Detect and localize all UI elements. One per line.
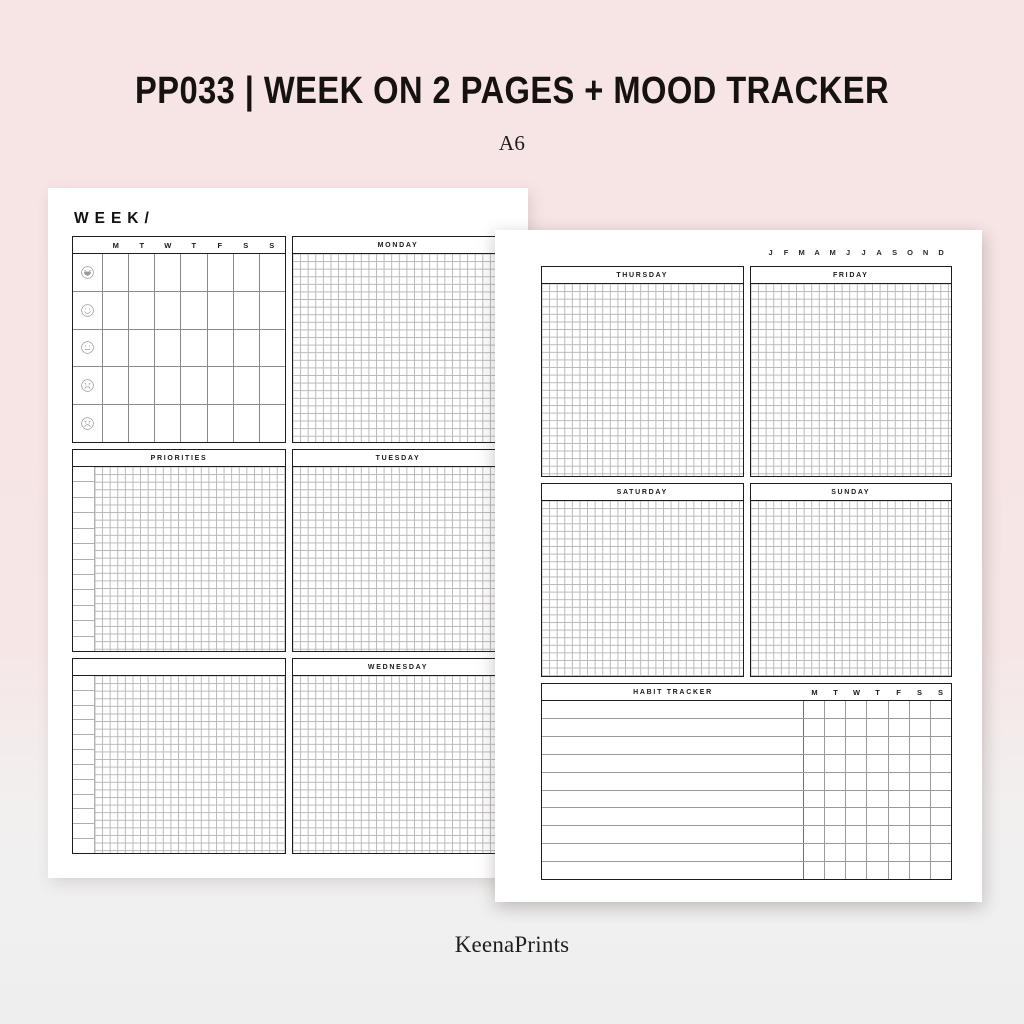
habit-cell[interactable]: [867, 862, 888, 879]
habit-cell[interactable]: [910, 791, 931, 808]
mood-day-s2: S: [259, 237, 285, 253]
mood-header-spacer: [73, 237, 103, 253]
section-monday-body[interactable]: [293, 254, 503, 442]
habit-cell[interactable]: [931, 773, 951, 790]
habit-day-cells: [804, 808, 951, 825]
notes-checkbox-column[interactable]: [73, 676, 95, 853]
habit-tracker-box[interactable]: HABIT TRACKER M T W T F S S: [541, 683, 952, 880]
mood-cell[interactable]: [129, 405, 155, 442]
month-oct[interactable]: O: [903, 248, 919, 257]
habit-cell[interactable]: [931, 844, 951, 861]
note-checkbox[interactable]: [73, 824, 94, 839]
habit-cell[interactable]: [889, 773, 910, 790]
habit-cell[interactable]: [889, 755, 910, 772]
mood-day-w: W: [155, 237, 181, 253]
habit-row[interactable]: [542, 737, 951, 755]
mood-day-t1: T: [129, 237, 155, 253]
habit-cell[interactable]: [867, 719, 888, 736]
habit-cell[interactable]: [931, 755, 951, 772]
habit-cell[interactable]: [889, 791, 910, 808]
habit-day-cells: [804, 791, 951, 808]
habit-cell[interactable]: [867, 791, 888, 808]
habit-name-field[interactable]: [542, 862, 804, 879]
habit-cell[interactable]: [846, 701, 867, 718]
note-checkbox[interactable]: [73, 691, 94, 706]
habit-day-cells: [804, 755, 951, 772]
habit-cell[interactable]: [825, 773, 846, 790]
note-checkbox[interactable]: [73, 795, 94, 810]
section-tuesday-label: TUESDAY: [293, 450, 503, 467]
habit-day-cells: [804, 701, 951, 718]
habit-cell[interactable]: [889, 826, 910, 843]
section-notes[interactable]: [72, 658, 286, 854]
section-priorities-label: PRIORITIES: [73, 450, 285, 467]
band-priorities-tuesday: PRIORITIES: [72, 449, 504, 652]
habit-row[interactable]: [542, 826, 951, 844]
mood-cell[interactable]: [234, 367, 260, 404]
mood-cell[interactable]: [208, 292, 234, 329]
grid-paper: [751, 284, 952, 476]
habit-cell[interactable]: [804, 773, 825, 790]
habit-cell[interactable]: [825, 844, 846, 861]
habit-cell[interactable]: [867, 773, 888, 790]
habit-day-cells: [804, 844, 951, 861]
habit-cell[interactable]: [825, 755, 846, 772]
mood-cell[interactable]: [103, 330, 129, 367]
month-sep[interactable]: S: [887, 248, 903, 257]
band-mood-monday: M T W T F S S: [72, 236, 504, 443]
habit-cell[interactable]: [889, 737, 910, 754]
right-planner-page[interactable]: J F M A M J J A S O N D THURSDAY FRIDAY: [495, 230, 982, 902]
habit-day-cells: [804, 737, 951, 754]
grid-paper: [751, 501, 952, 676]
note-checkbox[interactable]: [73, 839, 94, 853]
mood-cell[interactable]: [260, 405, 285, 442]
habit-cell[interactable]: [910, 719, 931, 736]
habit-cell[interactable]: [846, 719, 867, 736]
habit-cell[interactable]: [825, 719, 846, 736]
grid-paper: [542, 284, 743, 476]
habit-cell[interactable]: [889, 808, 910, 825]
habit-name-field[interactable]: [542, 844, 804, 861]
habit-name-field[interactable]: [542, 826, 804, 843]
habit-cell[interactable]: [910, 773, 931, 790]
priority-checkbox[interactable]: [73, 482, 94, 497]
month-nov[interactable]: N: [918, 248, 934, 257]
grid-paper: [293, 676, 503, 853]
habit-cell[interactable]: [910, 844, 931, 861]
mood-cell[interactable]: [155, 367, 181, 404]
habit-row[interactable]: [542, 773, 951, 791]
habit-cell[interactable]: [846, 737, 867, 754]
mood-row-sad[interactable]: [73, 367, 285, 405]
note-checkbox[interactable]: [73, 676, 94, 691]
priority-checkbox[interactable]: [73, 637, 94, 651]
mood-cell[interactable]: [181, 292, 207, 329]
habit-cell[interactable]: [889, 862, 910, 879]
habit-cell[interactable]: [846, 773, 867, 790]
habit-tracker-header-row: HABIT TRACKER M T W T F S S: [542, 684, 951, 701]
mood-cell[interactable]: [181, 254, 207, 291]
priority-checkbox[interactable]: [73, 498, 94, 513]
mood-day-m1: M: [103, 237, 129, 253]
mood-row-very-happy[interactable]: [73, 254, 285, 292]
mood-cell[interactable]: [260, 367, 285, 404]
left-planner-page[interactable]: WEEK/ M T W T F S S: [48, 188, 528, 878]
page-title: PP033 | WEEK ON 2 PAGES + MOOD TRACKER: [72, 70, 953, 113]
note-checkbox[interactable]: [73, 780, 94, 795]
priority-checkbox[interactable]: [73, 606, 94, 621]
habit-day-cells: [804, 773, 951, 790]
grid-paper: [293, 467, 503, 651]
priority-checkbox[interactable]: [73, 529, 94, 544]
mood-cell[interactable]: [103, 292, 129, 329]
mood-cell[interactable]: [208, 254, 234, 291]
mood-cell[interactable]: [208, 405, 234, 442]
sad-face-icon: [73, 367, 103, 404]
very-happy-face-icon: [73, 254, 103, 291]
habit-cell[interactable]: [931, 826, 951, 843]
habit-cell[interactable]: [846, 808, 867, 825]
happy-face-icon: [73, 292, 103, 329]
habit-row[interactable]: [542, 755, 951, 773]
mood-cell[interactable]: [260, 254, 285, 291]
habit-day-s1: S: [909, 684, 930, 700]
very-sad-face-icon: [73, 405, 103, 442]
habit-cell[interactable]: [931, 719, 951, 736]
mood-cell[interactable]: [234, 292, 260, 329]
habit-row[interactable]: [542, 862, 951, 879]
mood-cell[interactable]: [129, 367, 155, 404]
section-sunday-body[interactable]: [751, 501, 952, 676]
habit-cell[interactable]: [825, 701, 846, 718]
mood-day-t2: T: [181, 237, 207, 253]
habit-cell[interactable]: [867, 826, 888, 843]
habit-cell[interactable]: [867, 808, 888, 825]
mood-cell[interactable]: [181, 330, 207, 367]
habit-row[interactable]: [542, 701, 951, 719]
habit-cell[interactable]: [825, 862, 846, 879]
habit-day-t1: T: [825, 684, 846, 700]
notes-write-area[interactable]: [95, 676, 285, 853]
habit-cell[interactable]: [846, 791, 867, 808]
habit-name-field[interactable]: [542, 737, 804, 754]
priorities-checkbox-column[interactable]: [73, 467, 95, 651]
mood-cell[interactable]: [260, 292, 285, 329]
priority-checkbox[interactable]: [73, 575, 94, 590]
grid-paper: [95, 467, 285, 651]
left-page-content: WEEK/ M T W T F S S: [72, 210, 504, 854]
mood-row-happy[interactable]: [73, 292, 285, 330]
month-mar[interactable]: M: [794, 248, 810, 257]
month-aug[interactable]: A: [872, 248, 888, 257]
habit-day-cells: [804, 719, 951, 736]
habit-name-field[interactable]: [542, 791, 804, 808]
grid-paper: [542, 501, 743, 676]
habit-cell[interactable]: [825, 808, 846, 825]
section-priorities-body[interactable]: [73, 467, 285, 651]
mood-cell[interactable]: [208, 330, 234, 367]
habit-tracker-rows: [542, 701, 951, 879]
note-checkbox[interactable]: [73, 750, 94, 765]
habit-cell[interactable]: [804, 791, 825, 808]
mood-day-f: F: [207, 237, 233, 253]
priority-checkbox[interactable]: [73, 467, 94, 482]
section-notes-label: [73, 659, 285, 676]
note-checkbox[interactable]: [73, 735, 94, 750]
habit-cell[interactable]: [931, 737, 951, 754]
habit-cell[interactable]: [910, 755, 931, 772]
note-checkbox[interactable]: [73, 720, 94, 735]
section-wednesday[interactable]: WEDNESDAY: [292, 658, 504, 854]
habit-name-field[interactable]: [542, 773, 804, 790]
habit-cell[interactable]: [889, 844, 910, 861]
mood-cell[interactable]: [234, 330, 260, 367]
habit-name-field[interactable]: [542, 755, 804, 772]
mood-tracker-header-row: M T W T F S S: [73, 237, 285, 254]
right-page-content: J F M A M J J A S O N D THURSDAY FRIDAY: [541, 248, 952, 880]
habit-cell[interactable]: [846, 862, 867, 879]
habit-cell[interactable]: [846, 826, 867, 843]
month-apr[interactable]: A: [810, 248, 826, 257]
band-notes-wednesday: WEDNESDAY: [72, 658, 504, 854]
habit-cell[interactable]: [910, 862, 931, 879]
grid-paper: [293, 254, 503, 442]
mood-cell[interactable]: [155, 254, 181, 291]
mood-cell[interactable]: [208, 367, 234, 404]
habit-cell[interactable]: [825, 791, 846, 808]
month-jul[interactable]: J: [856, 248, 872, 257]
habit-cell[interactable]: [804, 701, 825, 718]
habit-day-headers: M T W T F S S: [804, 684, 951, 700]
habit-cell[interactable]: [931, 808, 951, 825]
section-priorities[interactable]: PRIORITIES: [72, 449, 286, 652]
habit-row[interactable]: [542, 844, 951, 862]
section-friday-label: FRIDAY: [751, 267, 952, 284]
section-thursday-body[interactable]: [542, 284, 743, 476]
note-checkbox[interactable]: [73, 706, 94, 721]
habit-cell[interactable]: [825, 826, 846, 843]
habit-cell[interactable]: [867, 701, 888, 718]
habit-cell[interactable]: [889, 719, 910, 736]
mood-cell[interactable]: [103, 405, 129, 442]
section-monday[interactable]: MONDAY: [292, 236, 504, 443]
band-habit-tracker: HABIT TRACKER M T W T F S S: [541, 683, 952, 880]
mood-cell[interactable]: [181, 367, 207, 404]
habit-name-field[interactable]: [542, 701, 804, 718]
header: PP033 | WEEK ON 2 PAGES + MOOD TRACKER A…: [0, 0, 1024, 185]
mood-cell[interactable]: [103, 367, 129, 404]
priority-checkbox[interactable]: [73, 560, 94, 575]
section-wednesday-body[interactable]: [293, 676, 503, 853]
section-notes-body[interactable]: [73, 676, 285, 853]
habit-cell[interactable]: [804, 844, 825, 861]
week-heading: WEEK/: [72, 210, 504, 228]
habit-cell[interactable]: [867, 737, 888, 754]
mood-cell[interactable]: [155, 405, 181, 442]
habit-cell[interactable]: [910, 737, 931, 754]
habit-tracker-label: HABIT TRACKER: [542, 684, 804, 700]
habit-name-field[interactable]: [542, 719, 804, 736]
mood-tracker-rows: [73, 254, 285, 442]
mood-tracker-box[interactable]: M T W T F S S: [72, 236, 286, 443]
habit-cell[interactable]: [804, 808, 825, 825]
months-strip[interactable]: J F M A M J J A S O N D: [541, 248, 952, 257]
habit-day-t2: T: [867, 684, 888, 700]
note-checkbox[interactable]: [73, 765, 94, 780]
habit-cell[interactable]: [910, 701, 931, 718]
section-tuesday-body[interactable]: [293, 467, 503, 651]
priority-checkbox[interactable]: [73, 621, 94, 636]
priorities-write-area[interactable]: [95, 467, 285, 651]
habit-name-field[interactable]: [542, 808, 804, 825]
mood-cell[interactable]: [129, 330, 155, 367]
habit-cell[interactable]: [804, 862, 825, 879]
neutral-face-icon: [73, 330, 103, 367]
habit-day-m1: M: [804, 684, 825, 700]
habit-day-s2: S: [930, 684, 951, 700]
mood-cell[interactable]: [181, 405, 207, 442]
habit-cell[interactable]: [804, 755, 825, 772]
habit-cell[interactable]: [867, 844, 888, 861]
section-thursday[interactable]: THURSDAY: [541, 266, 744, 477]
section-friday-body[interactable]: [751, 284, 952, 476]
mood-cell[interactable]: [129, 292, 155, 329]
brand-footer: KeenaPrints: [0, 932, 1024, 958]
month-jan[interactable]: J: [763, 248, 779, 257]
habit-day-w: W: [846, 684, 867, 700]
section-saturday[interactable]: SATURDAY: [541, 483, 744, 677]
section-tuesday[interactable]: TUESDAY: [292, 449, 504, 652]
month-feb[interactable]: F: [779, 248, 795, 257]
habit-cell[interactable]: [804, 719, 825, 736]
habit-cell[interactable]: [931, 701, 951, 718]
section-sunday-label: SUNDAY: [751, 484, 952, 501]
section-friday[interactable]: FRIDAY: [750, 266, 953, 477]
month-dec[interactable]: D: [934, 248, 950, 257]
habit-row[interactable]: [542, 791, 951, 809]
habit-cell[interactable]: [931, 862, 951, 879]
mood-cell[interactable]: [155, 292, 181, 329]
note-checkbox[interactable]: [73, 809, 94, 824]
band-thursday-friday: THURSDAY FRIDAY: [541, 266, 952, 477]
section-monday-label: MONDAY: [293, 237, 503, 254]
habit-cell[interactable]: [825, 737, 846, 754]
habit-cell[interactable]: [910, 826, 931, 843]
mood-cell[interactable]: [103, 254, 129, 291]
habit-cell[interactable]: [804, 826, 825, 843]
mood-tracker-table: M T W T F S S: [73, 237, 285, 442]
priority-checkbox[interactable]: [73, 544, 94, 559]
mood-row-very-sad[interactable]: [73, 405, 285, 442]
section-sunday[interactable]: SUNDAY: [750, 483, 953, 677]
month-may[interactable]: M: [825, 248, 841, 257]
mood-row-neutral[interactable]: [73, 330, 285, 368]
section-thursday-label: THURSDAY: [542, 267, 743, 284]
habit-row[interactable]: [542, 719, 951, 737]
habit-cell[interactable]: [889, 701, 910, 718]
page-subtitle-size: A6: [0, 131, 1024, 156]
habit-cell[interactable]: [931, 791, 951, 808]
habit-row[interactable]: [542, 808, 951, 826]
priority-checkbox[interactable]: [73, 513, 94, 528]
habit-cell[interactable]: [867, 755, 888, 772]
habit-day-f: F: [888, 684, 909, 700]
band-saturday-sunday: SATURDAY SUNDAY: [541, 483, 952, 677]
mood-cell[interactable]: [234, 254, 260, 291]
mood-cell[interactable]: [155, 330, 181, 367]
mood-day-s1: S: [233, 237, 259, 253]
section-wednesday-label: WEDNESDAY: [293, 659, 503, 676]
mood-cell[interactable]: [260, 330, 285, 367]
habit-cell[interactable]: [846, 844, 867, 861]
habit-cell[interactable]: [846, 755, 867, 772]
month-jun[interactable]: J: [841, 248, 857, 257]
priority-checkbox[interactable]: [73, 590, 94, 605]
habit-cell[interactable]: [804, 737, 825, 754]
section-saturday-body[interactable]: [542, 501, 743, 676]
grid-paper: [95, 676, 285, 853]
mood-cell[interactable]: [234, 405, 260, 442]
mood-cell[interactable]: [129, 254, 155, 291]
habit-day-cells: [804, 826, 951, 843]
habit-day-cells: [804, 862, 951, 879]
section-saturday-label: SATURDAY: [542, 484, 743, 501]
habit-cell[interactable]: [910, 808, 931, 825]
